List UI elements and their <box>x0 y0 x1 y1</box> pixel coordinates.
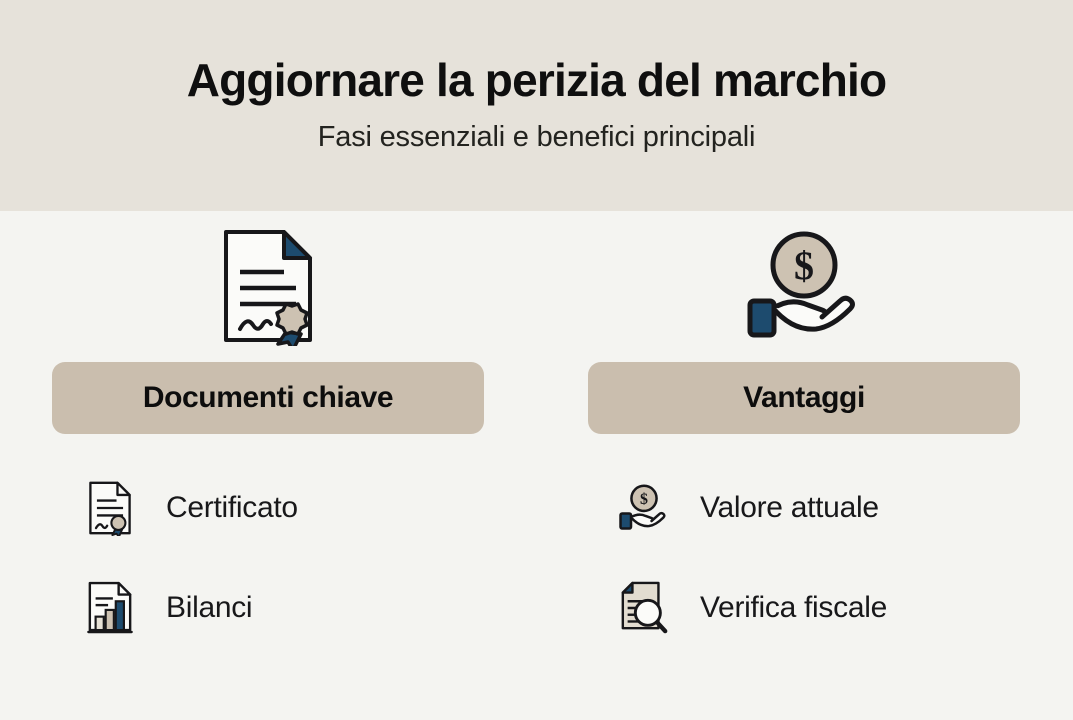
list-item-label: Valore attuale <box>700 491 879 525</box>
list-item: Certificato <box>52 458 484 558</box>
pill-label: Vantaggi <box>743 381 865 415</box>
pill-label: Documenti chiave <box>143 381 393 415</box>
svg-text:$: $ <box>794 243 814 288</box>
pill-documenti-chiave: Documenti chiave <box>52 362 484 434</box>
header-band: Aggiornare la perizia del marchio Fasi e… <box>0 0 1073 211</box>
column-documenti-chiave: Documenti chiave Certificato <box>0 211 536 720</box>
balance-sheet-chart-icon <box>84 580 136 636</box>
list-item: Bilanci <box>52 558 484 658</box>
list-item: $ Valore attuale <box>588 458 1020 558</box>
list-item: Verifica fiscale <box>588 558 1020 658</box>
column-vantaggi: $ Vantaggi $ Valor <box>536 211 1072 720</box>
item-list-vantaggi: $ Valore attuale <box>588 458 1020 658</box>
svg-text:$: $ <box>640 491 648 508</box>
hand-holding-coin-icon: $ <box>742 226 866 346</box>
item-list-documenti-chiave: Certificato Bilanci <box>52 458 484 658</box>
content-columns: Documenti chiave Certificato <box>0 211 1073 720</box>
pill-vantaggi: Vantaggi <box>588 362 1020 434</box>
hand-holding-coin-icon: $ <box>618 480 670 536</box>
list-item-label: Verifica fiscale <box>700 591 887 625</box>
page-subtitle: Fasi essenziali e benefici principali <box>318 121 755 154</box>
list-item-label: Bilanci <box>166 591 252 625</box>
certificate-icon <box>220 226 316 346</box>
certificate-icon <box>84 480 136 536</box>
page-title: Aggiornare la perizia del marchio <box>187 56 887 105</box>
document-magnifier-icon <box>618 580 670 636</box>
list-item-label: Certificato <box>166 491 298 525</box>
